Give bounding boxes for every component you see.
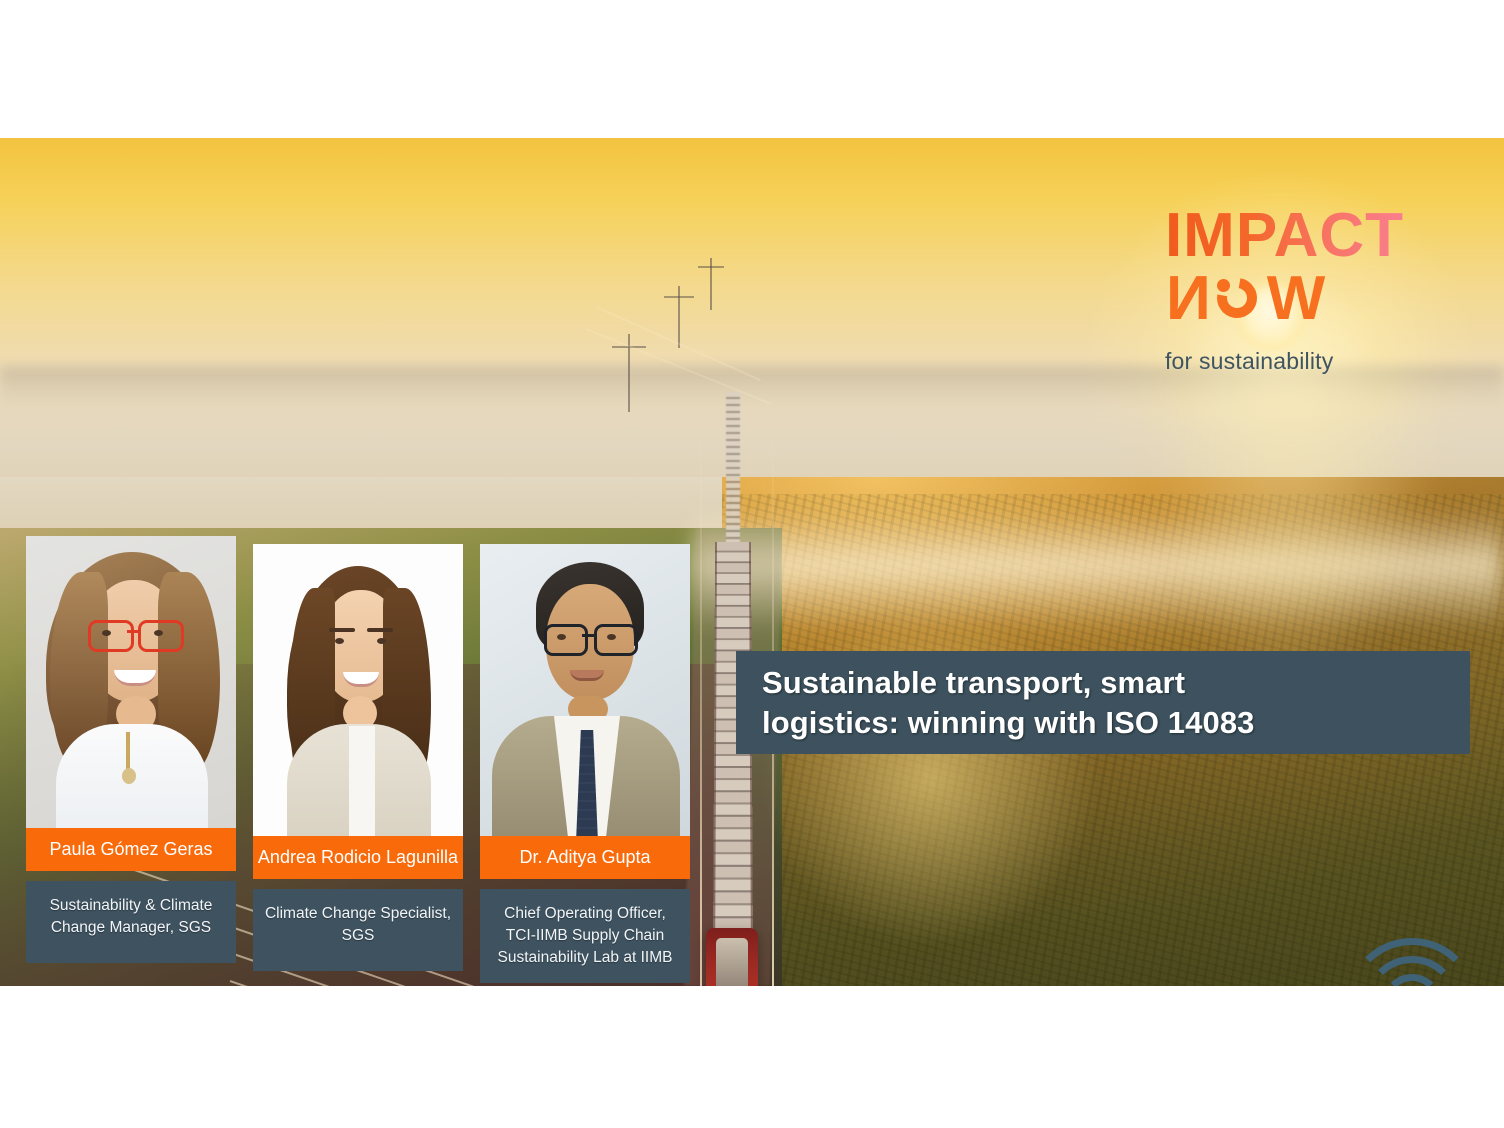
speaker-name: Paula Gómez Geras	[26, 828, 236, 871]
background-photo: IMPACT N W for sustainability Sustainabl…	[0, 138, 1504, 986]
rail-left	[700, 426, 702, 986]
speaker-role: Climate Change Specialist, SGS	[253, 889, 463, 971]
speaker-name: Andrea Rodicio Lagunilla	[253, 836, 463, 879]
speaker-role-line-2: TCI-IIMB Supply Chain	[488, 925, 682, 947]
logo-impact-text: IMPACT	[1165, 206, 1404, 267]
power-pole-arm	[664, 296, 694, 298]
wifi-arc-icon	[1336, 938, 1488, 986]
impact-now-logo: IMPACT N W for sustainability	[1165, 206, 1404, 375]
logo-now-row: N W	[1165, 269, 1404, 330]
power-pole-arm	[698, 266, 724, 268]
speaker-role-line-2: Change Manager, SGS	[34, 917, 228, 939]
speaker-role-line-1: Chief Operating Officer,	[488, 903, 682, 925]
o-arc-mark-icon	[1213, 276, 1265, 328]
logo-now-w: W	[1267, 269, 1327, 330]
locomotive-roof	[716, 938, 748, 986]
speaker-role-line-3: Sustainability Lab at IIMB	[488, 947, 682, 969]
webinar-title-banner: Sustainable transport, smart logistics: …	[736, 651, 1470, 754]
speaker-name: Dr. Aditya Gupta	[480, 836, 690, 879]
avatar	[26, 536, 236, 828]
logo-tagline: for sustainability	[1165, 348, 1404, 375]
logo-now-n: N	[1165, 269, 1211, 330]
speaker-card-2: Andrea Rodicio Lagunilla Climate Change …	[253, 544, 463, 971]
speaker-role-line-1: Climate Change Specialist,	[261, 903, 455, 925]
speaker-card-3: Dr. Aditya Gupta Chief Operating Officer…	[480, 544, 690, 983]
train-distant-cars	[726, 392, 740, 545]
avatar	[480, 544, 690, 836]
speaker-role: Sustainability & Climate Change Manager,…	[26, 881, 236, 963]
speaker-role: Chief Operating Officer, TCI-IIMB Supply…	[480, 889, 690, 983]
speaker-role-line-1: Sustainability & Climate	[34, 895, 228, 917]
sgs-live-logo: SGS LIVE	[1336, 938, 1488, 986]
title-line-1: Sustainable transport, smart	[762, 663, 1255, 702]
speaker-role-line-2: SGS	[261, 925, 455, 947]
slide-canvas: IMPACT N W for sustainability Sustainabl…	[0, 0, 1504, 1128]
avatar	[253, 544, 463, 836]
train-cars	[713, 542, 753, 986]
title-line-2: logistics: winning with ISO 14083	[762, 703, 1255, 742]
speaker-card-1: Paula Gómez Geras Sustainability & Clima…	[26, 536, 236, 963]
sun-rays	[1110, 298, 1470, 918]
